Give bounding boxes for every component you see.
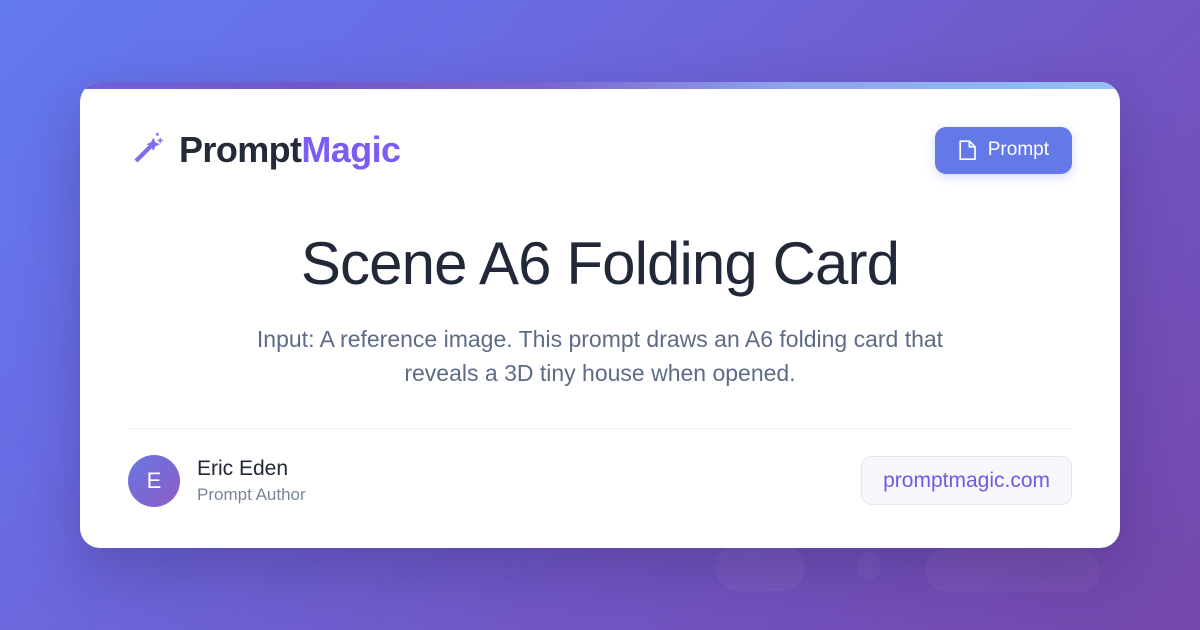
card-content: PromptMagic Prompt Scene A6 Folding Card… bbox=[80, 82, 1120, 548]
background-blob bbox=[858, 552, 880, 580]
author-name: Eric Eden bbox=[197, 456, 306, 482]
prompt-share-card: PromptMagic Prompt Scene A6 Folding Card… bbox=[80, 82, 1120, 548]
avatar-initial: E bbox=[147, 470, 162, 492]
prompt-button[interactable]: Prompt bbox=[935, 127, 1072, 174]
brand-word-prompt: Prompt bbox=[179, 129, 301, 170]
page-title: Scene A6 Folding Card bbox=[128, 232, 1072, 297]
prompt-button-label: Prompt bbox=[988, 139, 1049, 161]
background-blob bbox=[925, 548, 1100, 592]
author-role: Prompt Author bbox=[197, 484, 306, 506]
background-blob bbox=[715, 545, 805, 591]
brand-logo[interactable]: PromptMagic bbox=[128, 131, 400, 169]
site-url-badge[interactable]: promptmagic.com bbox=[861, 456, 1072, 505]
author-block: E Eric Eden Prompt Author bbox=[128, 455, 306, 507]
author-text: Eric Eden Prompt Author bbox=[197, 456, 306, 506]
magic-wand-icon bbox=[128, 131, 166, 169]
brand-word-magic: Magic bbox=[301, 129, 400, 170]
page-subtitle: Input: A reference image. This prompt dr… bbox=[220, 322, 980, 390]
avatar: E bbox=[128, 455, 180, 507]
footer-divider bbox=[128, 428, 1072, 429]
file-document-icon bbox=[958, 140, 977, 161]
brand-title: PromptMagic bbox=[179, 132, 400, 168]
card-header: PromptMagic Prompt bbox=[128, 122, 1072, 178]
card-footer: E Eric Eden Prompt Author promptmagic.co… bbox=[128, 455, 1072, 507]
